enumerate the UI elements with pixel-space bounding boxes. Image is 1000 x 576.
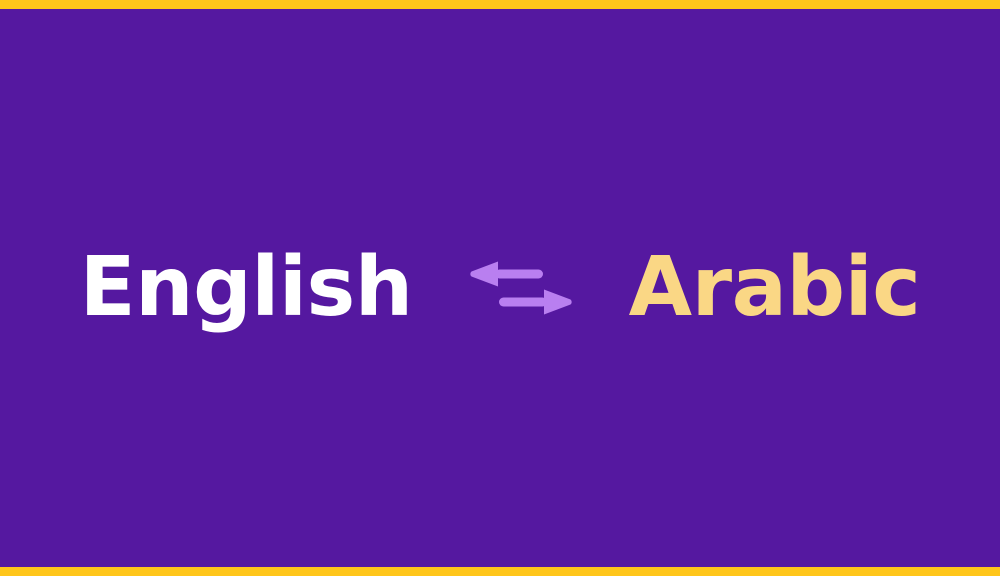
swap-horizontal-arrows-icon[interactable] (467, 259, 575, 317)
language-pair-banner: English Arabic (0, 0, 1000, 576)
target-language-label: Arabic (629, 247, 921, 329)
source-language-label: English (80, 247, 413, 329)
language-pair-row: English Arabic (0, 0, 1000, 576)
swap-horizontal-arrows-glyph (467, 259, 575, 317)
